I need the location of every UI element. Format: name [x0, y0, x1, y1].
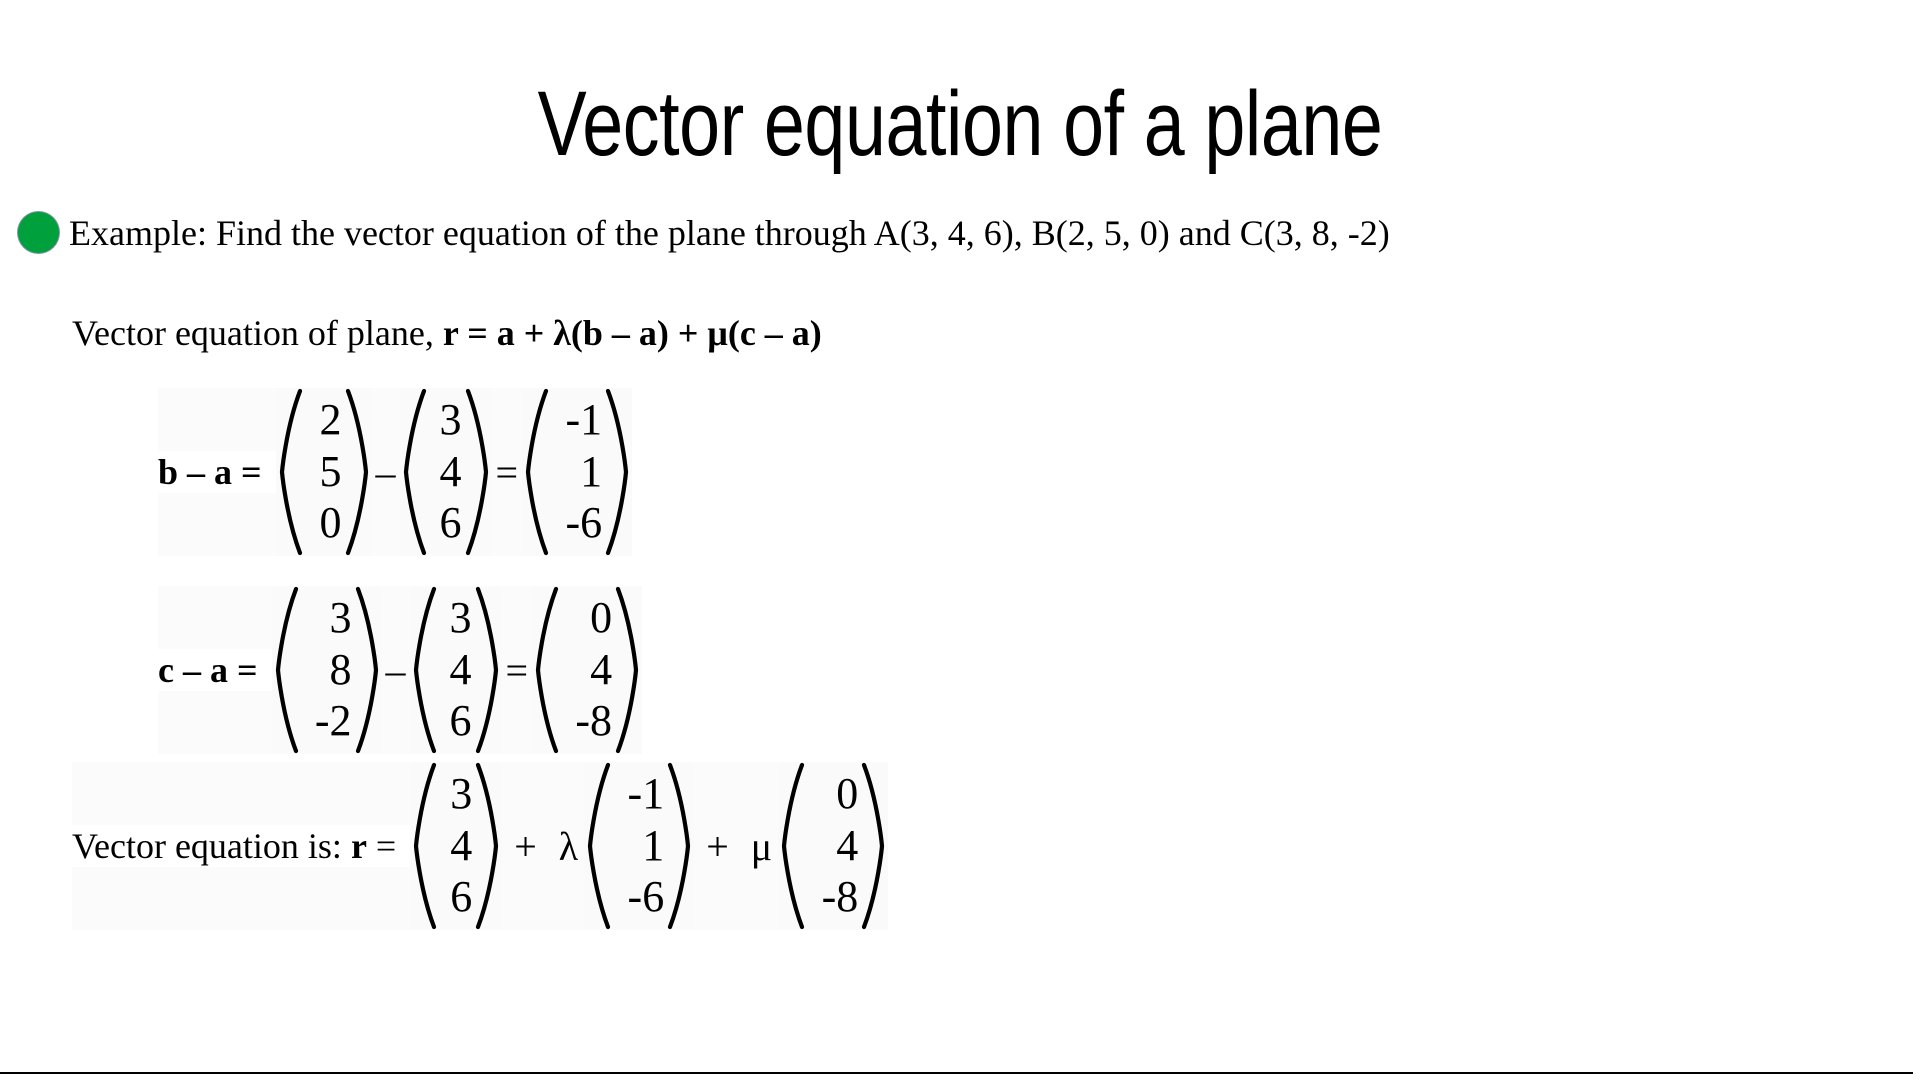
operator-plus-1: + — [502, 823, 549, 870]
operator-equals-2: = — [502, 647, 533, 694]
right-paren-icon — [614, 586, 642, 754]
right-paren-icon — [474, 762, 502, 930]
direction2-component-3: -8 — [822, 875, 859, 920]
vector-position-a: 3 4 6 — [410, 762, 502, 930]
vector-b-component-1: 2 — [320, 398, 342, 443]
left-paren-icon — [522, 388, 550, 556]
vector-direction-b-minus-a: -1 1 -6 — [584, 762, 694, 930]
equation-label-b-minus-a: b – a = — [158, 451, 276, 493]
vector-b-minus-a-result: -1 1 -6 — [522, 388, 632, 556]
scalar-mu: μ — [741, 823, 778, 870]
right-paren-icon — [604, 388, 632, 556]
right-paren-icon — [344, 388, 372, 556]
final-equation-label-text: Vector equation is: — [72, 826, 351, 866]
result-component-1: 0 — [590, 596, 612, 641]
vector-c-component-2: 8 — [330, 648, 352, 693]
result-component-3: -8 — [575, 699, 612, 744]
vector-a-1: 3 4 6 — [400, 388, 492, 556]
direction2-component-2: 4 — [836, 824, 858, 869]
vector-b-component-2: 5 — [320, 450, 342, 495]
vector-c-component-1: 3 — [330, 596, 352, 641]
left-paren-icon — [410, 586, 438, 754]
left-paren-icon — [532, 586, 560, 754]
result-component-1: -1 — [565, 398, 602, 443]
slide-bottom-rule — [0, 1072, 1913, 1074]
example-bullet-row: Example: Find the vector equation of the… — [18, 212, 1390, 253]
vector-direction-c-minus-a: 0 4 -8 — [778, 762, 888, 930]
vector-a-component-1: 3 — [450, 596, 472, 641]
position-component-2: 4 — [450, 824, 472, 869]
vector-c-minus-a-result: 0 4 -8 — [532, 586, 642, 754]
operator-minus-2: – — [382, 647, 410, 694]
final-equation-equals: = — [367, 826, 396, 866]
result-component-2: 4 — [590, 648, 612, 693]
left-paren-icon — [778, 762, 806, 930]
equation-b-minus-a: b – a = 2 5 0 – 3 4 6 = — [158, 388, 632, 556]
formula-prefix-label: Vector equation of plane, — [72, 313, 443, 353]
result-component-3: -6 — [565, 501, 602, 546]
vector-c: 3 8 -2 — [272, 586, 382, 754]
page-title: Vector equation of a plane — [192, 78, 1728, 170]
vector-a-component-1: 3 — [440, 398, 462, 443]
vector-a-2: 3 4 6 — [410, 586, 502, 754]
vector-a-component-2: 4 — [440, 450, 462, 495]
left-paren-icon — [272, 586, 300, 754]
direction1-component-2: 1 — [642, 824, 664, 869]
operator-equals-1: = — [492, 449, 523, 496]
vector-a-component-3: 6 — [450, 699, 472, 744]
final-equation-label: Vector equation is: r = — [72, 825, 410, 867]
right-paren-icon — [464, 388, 492, 556]
direction1-component-1: -1 — [628, 772, 665, 817]
vector-b: 2 5 0 — [276, 388, 372, 556]
right-paren-icon — [666, 762, 694, 930]
operator-minus-1: – — [372, 449, 400, 496]
left-paren-icon — [276, 388, 304, 556]
left-paren-icon — [584, 762, 612, 930]
vector-equation-formula-line: Vector equation of plane, r = a + λ(b – … — [72, 315, 822, 351]
direction2-component-1: 0 — [836, 772, 858, 817]
right-paren-icon — [860, 762, 888, 930]
vector-a-component-2: 4 — [450, 648, 472, 693]
equation-label-c-minus-a: c – a = — [158, 649, 272, 691]
left-paren-icon — [400, 388, 428, 556]
direction1-component-3: -6 — [628, 875, 665, 920]
right-paren-icon — [474, 586, 502, 754]
scalar-lambda: λ — [549, 823, 584, 870]
position-component-3: 6 — [450, 875, 472, 920]
final-equation-r-symbol: r — [351, 826, 367, 866]
equation-final-vector-equation: Vector equation is: r = 3 4 6 + λ -1 1 -… — [72, 762, 888, 930]
formula-expression: r = a + λ(b – a) + μ(c – a) — [443, 313, 822, 353]
example-bullet-text: Example: Find the vector equation of the… — [69, 215, 1390, 251]
result-component-2: 1 — [580, 450, 602, 495]
operator-plus-2: + — [694, 823, 741, 870]
position-component-1: 3 — [450, 772, 472, 817]
vector-c-component-3: -2 — [315, 699, 352, 744]
vector-a-component-3: 6 — [440, 501, 462, 546]
right-paren-icon — [354, 586, 382, 754]
vector-b-component-3: 0 — [320, 501, 342, 546]
green-circle-bullet-icon — [18, 212, 59, 253]
equation-c-minus-a: c – a = 3 8 -2 – 3 4 6 = — [158, 586, 642, 754]
left-paren-icon — [410, 762, 438, 930]
